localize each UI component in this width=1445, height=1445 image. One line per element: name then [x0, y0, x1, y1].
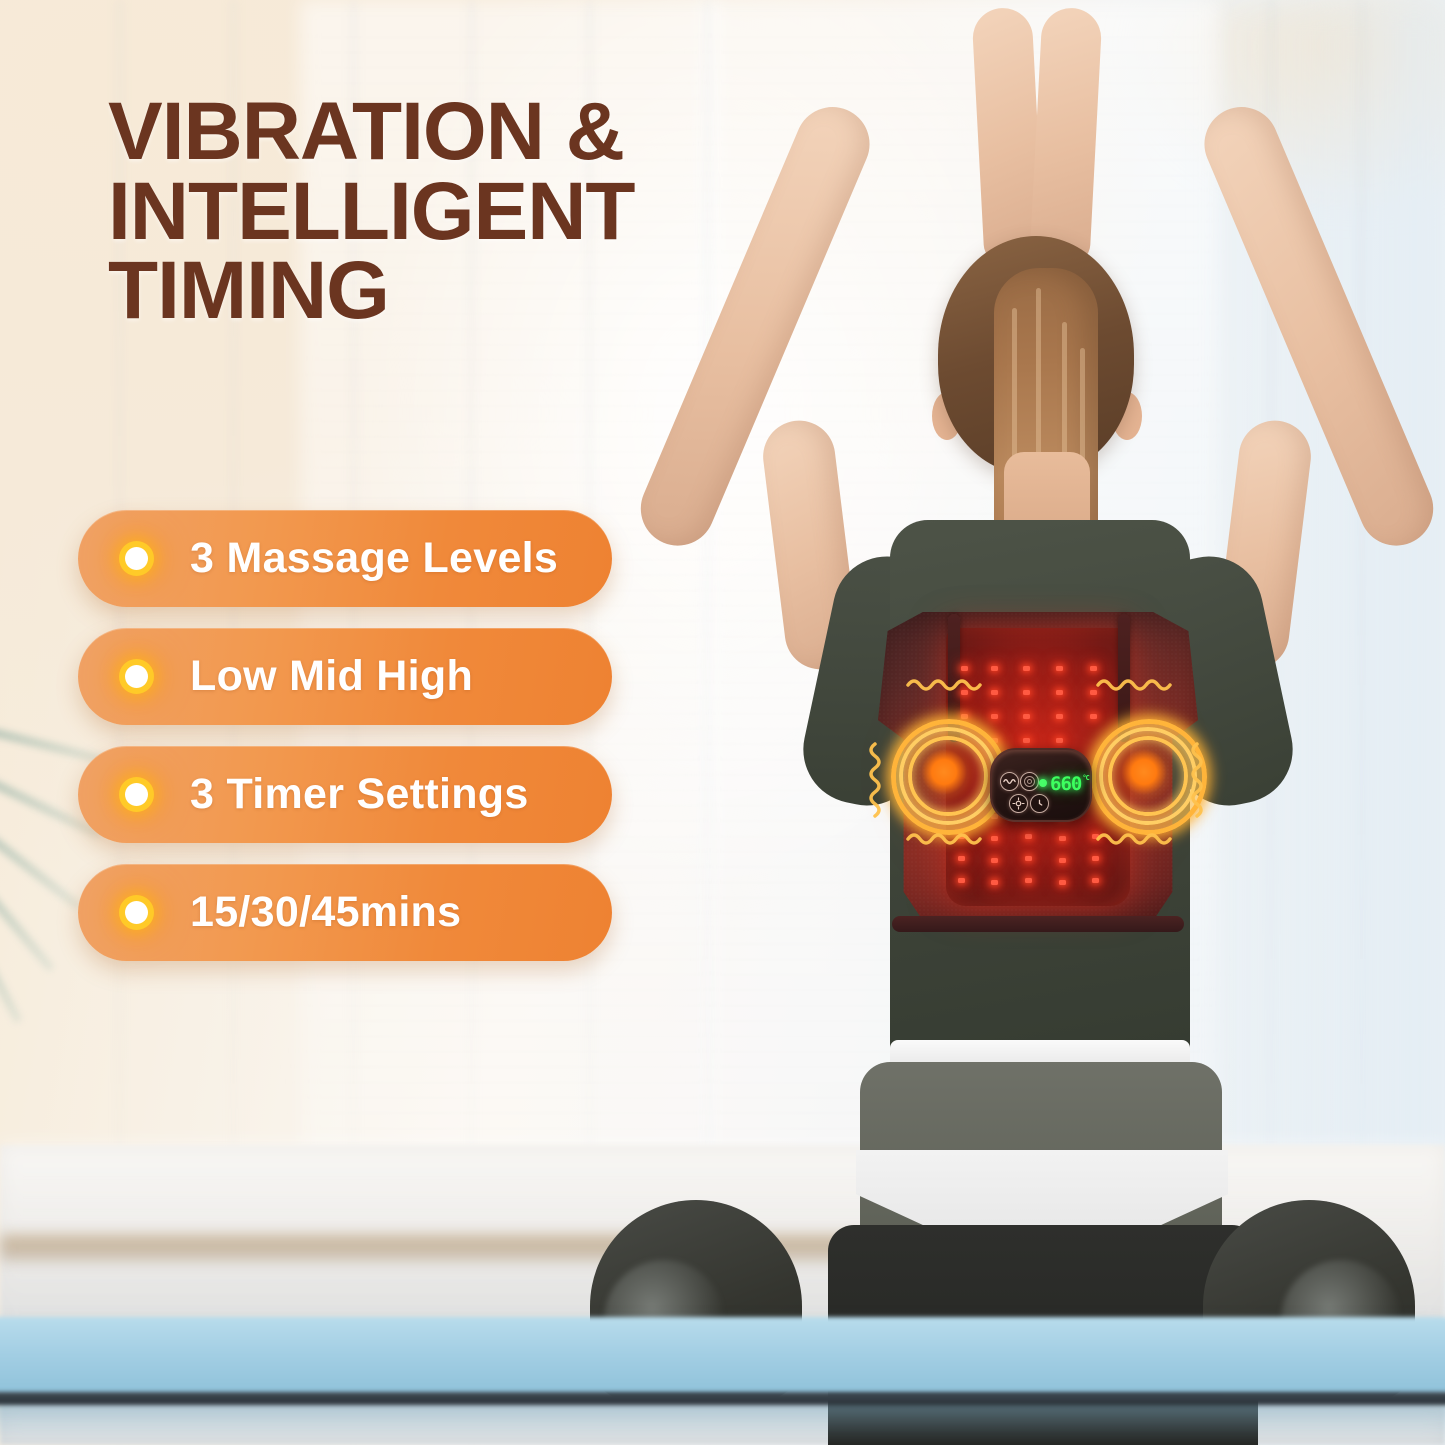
vest-hem — [892, 916, 1184, 932]
bullet-dot-icon — [125, 783, 148, 806]
clock-icon[interactable] — [1030, 794, 1049, 813]
feature-label: 3 Timer Settings — [190, 770, 529, 819]
feature-list: 3 Massage Levels Low Mid High 3 Timer Se… — [78, 510, 612, 982]
headline-line-1: VIBRATION & — [108, 92, 768, 172]
vibration-node-right — [1090, 718, 1198, 826]
feature-pill[interactable]: 3 Massage Levels — [78, 510, 612, 607]
feature-label: 15/30/45mins — [190, 888, 461, 937]
page-title: VIBRATION & INTELLIGENT TIMING — [108, 92, 768, 331]
vibration-wave-icon — [1096, 830, 1172, 846]
temperature-display: 660 °C — [1050, 772, 1086, 796]
vibration-wave-icon — [1188, 742, 1204, 818]
display-value: 660 — [1050, 773, 1081, 795]
wave-icon[interactable] — [1000, 772, 1019, 791]
display-unit: °C — [1082, 774, 1088, 782]
bullet-dot-icon — [125, 547, 148, 570]
vibration-wave-icon — [1096, 676, 1172, 692]
vibration-wave-icon — [866, 742, 882, 818]
feature-label: 3 Massage Levels — [190, 534, 558, 583]
bullet-dot-icon — [125, 901, 148, 924]
feature-label: Low Mid High — [190, 652, 473, 701]
right-arm — [1193, 96, 1445, 558]
yoga-mat-edge — [0, 1392, 1445, 1405]
massager-vest: 660 °C — [878, 612, 1198, 930]
vibration-wave-icon — [906, 830, 982, 846]
control-panel[interactable]: 660 °C — [990, 748, 1092, 822]
vibration-wave-icon — [906, 676, 982, 692]
power-led-indicator — [1039, 779, 1047, 787]
headline-line-3: TIMING — [108, 251, 768, 331]
feature-pill[interactable]: Low Mid High — [78, 628, 612, 725]
bullet-dot-icon — [125, 665, 148, 688]
product-feature-banner: 660 °C VIBRATION & INTELLIGENT TIMING 3 … — [0, 0, 1445, 1445]
vibration-node-left — [890, 718, 998, 826]
mat-reflection — [0, 1399, 1445, 1445]
heat-icon[interactable] — [1009, 794, 1028, 813]
headline-line-2: INTELLIGENT — [108, 172, 768, 252]
concentric-circles-icon[interactable] — [1020, 772, 1039, 791]
feature-pill[interactable]: 3 Timer Settings — [78, 746, 612, 843]
yoga-mat — [0, 1317, 1445, 1395]
feature-pill[interactable]: 15/30/45mins — [78, 864, 612, 961]
